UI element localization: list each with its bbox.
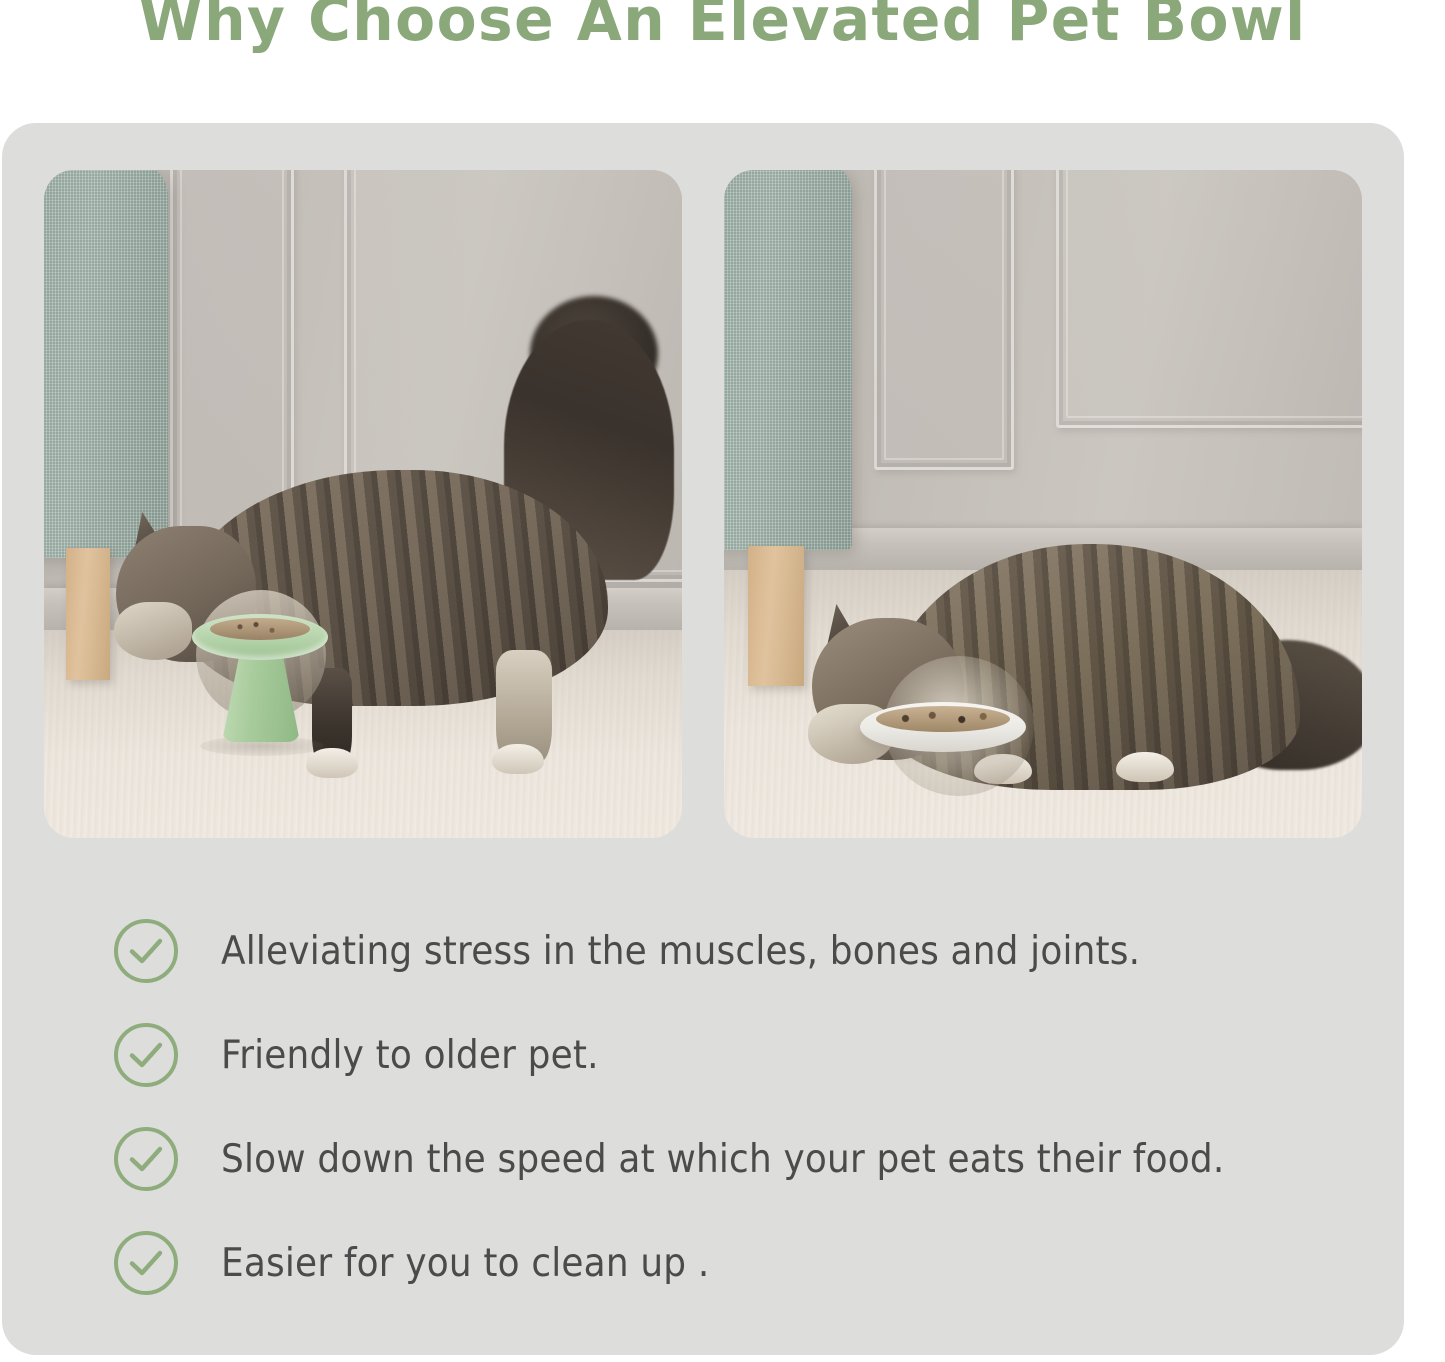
saucer-food — [876, 706, 1010, 732]
wall-panel-left — [170, 170, 294, 544]
feature-label: Alleviating stress in the muscles, bones… — [221, 929, 1140, 974]
infographic-page: Why Choose An Elevated Pet Bowl — [0, 0, 1445, 1362]
sofa-leg — [66, 548, 110, 680]
photo-comparison — [44, 170, 1362, 838]
feature-label: Easier for you to clean up . — [221, 1241, 709, 1286]
feature-item: Easier for you to clean up . — [112, 1211, 1402, 1315]
check-circle-icon — [112, 917, 180, 985]
feature-item: Slow down the speed at which your pet ea… — [112, 1107, 1402, 1211]
feature-item: Friendly to older pet. — [112, 1003, 1402, 1107]
sofa-arm — [724, 170, 852, 550]
feature-list: Alleviating stress in the muscles, bones… — [112, 899, 1402, 1315]
cat-hind-paw — [492, 744, 544, 774]
sofa-arm — [44, 170, 168, 558]
check-circle-icon — [112, 1125, 180, 1193]
check-circle-icon — [112, 1021, 180, 1089]
check-circle-icon — [112, 1229, 180, 1297]
feature-item: Alleviating stress in the muscles, bones… — [112, 899, 1402, 1003]
photo-flat-bowl — [724, 170, 1362, 838]
wall-panel-right — [1056, 170, 1362, 428]
sofa-leg — [748, 546, 804, 686]
feature-label: Friendly to older pet. — [221, 1033, 599, 1078]
cat-muzzle — [114, 602, 192, 660]
cat-hind-paw — [1116, 752, 1174, 782]
bowl-food — [210, 618, 310, 640]
photo-elevated-bowl — [44, 170, 682, 838]
cat-front-paw — [306, 748, 358, 778]
content-card: Alleviating stress in the muscles, bones… — [2, 123, 1404, 1355]
wall-panel-left — [874, 170, 1014, 470]
page-title: Why Choose An Elevated Pet Bowl — [22, 0, 1424, 54]
feature-label: Slow down the speed at which your pet ea… — [221, 1137, 1224, 1182]
